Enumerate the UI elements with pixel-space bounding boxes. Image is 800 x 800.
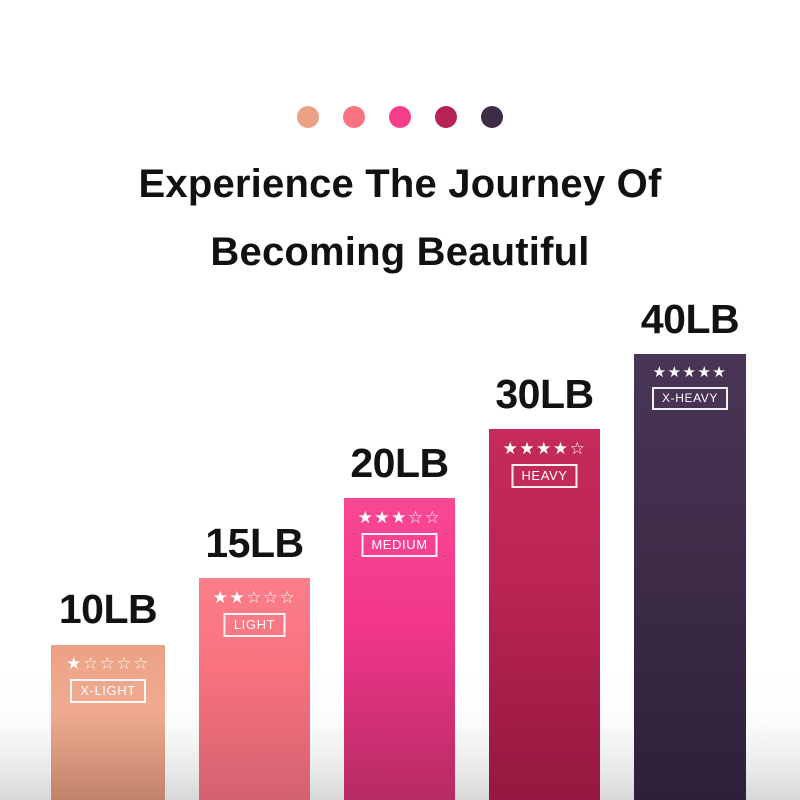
bar-group-x-light: 10LB★☆☆☆☆X-LIGHT bbox=[51, 589, 165, 800]
star-rating: ★★★★★ bbox=[634, 365, 746, 380]
star-rating: ★★★★☆ bbox=[489, 440, 600, 457]
tier-label: X-LIGHT bbox=[70, 679, 145, 703]
bar-group-light: 15LB★★☆☆☆LIGHT bbox=[199, 523, 310, 800]
bar-badge: ★★☆☆☆LIGHT bbox=[199, 589, 310, 637]
bar-fill bbox=[634, 354, 746, 800]
tier-label: LIGHT bbox=[224, 613, 285, 637]
bar-badge: ★★★★★X-HEAVY bbox=[634, 365, 746, 410]
bar-weight-label: 15LB bbox=[205, 523, 303, 564]
bar-group-medium: 20LB★★★☆☆MEDIUM bbox=[344, 443, 455, 800]
resistance-bar-chart: 10LB★☆☆☆☆X-LIGHT15LB★★☆☆☆LIGHT20LB★★★☆☆M… bbox=[0, 0, 800, 800]
bar-weight-label: 40LB bbox=[641, 299, 739, 340]
bar-group-heavy: 30LB★★★★☆HEAVY bbox=[489, 374, 600, 800]
bar-badge: ★★★★☆HEAVY bbox=[489, 440, 600, 488]
tier-label: HEAVY bbox=[511, 464, 577, 488]
bar-badge: ★★★☆☆MEDIUM bbox=[344, 509, 455, 557]
product-infographic: Experience The Journey Of Becoming Beaut… bbox=[0, 0, 800, 800]
bar-badge: ★☆☆☆☆X-LIGHT bbox=[51, 655, 165, 703]
bar-weight-label: 20LB bbox=[350, 443, 448, 484]
tier-label: X-HEAVY bbox=[652, 387, 728, 410]
star-rating: ★★★☆☆ bbox=[344, 509, 455, 526]
bar-x-heavy bbox=[634, 354, 746, 800]
star-rating: ★★☆☆☆ bbox=[199, 589, 310, 606]
bar-group-x-heavy: 40LB★★★★★X-HEAVY bbox=[634, 299, 746, 800]
bar-weight-label: 30LB bbox=[495, 374, 593, 415]
star-rating: ★☆☆☆☆ bbox=[51, 655, 165, 672]
tier-label: MEDIUM bbox=[361, 533, 437, 557]
bar-weight-label: 10LB bbox=[59, 589, 157, 630]
